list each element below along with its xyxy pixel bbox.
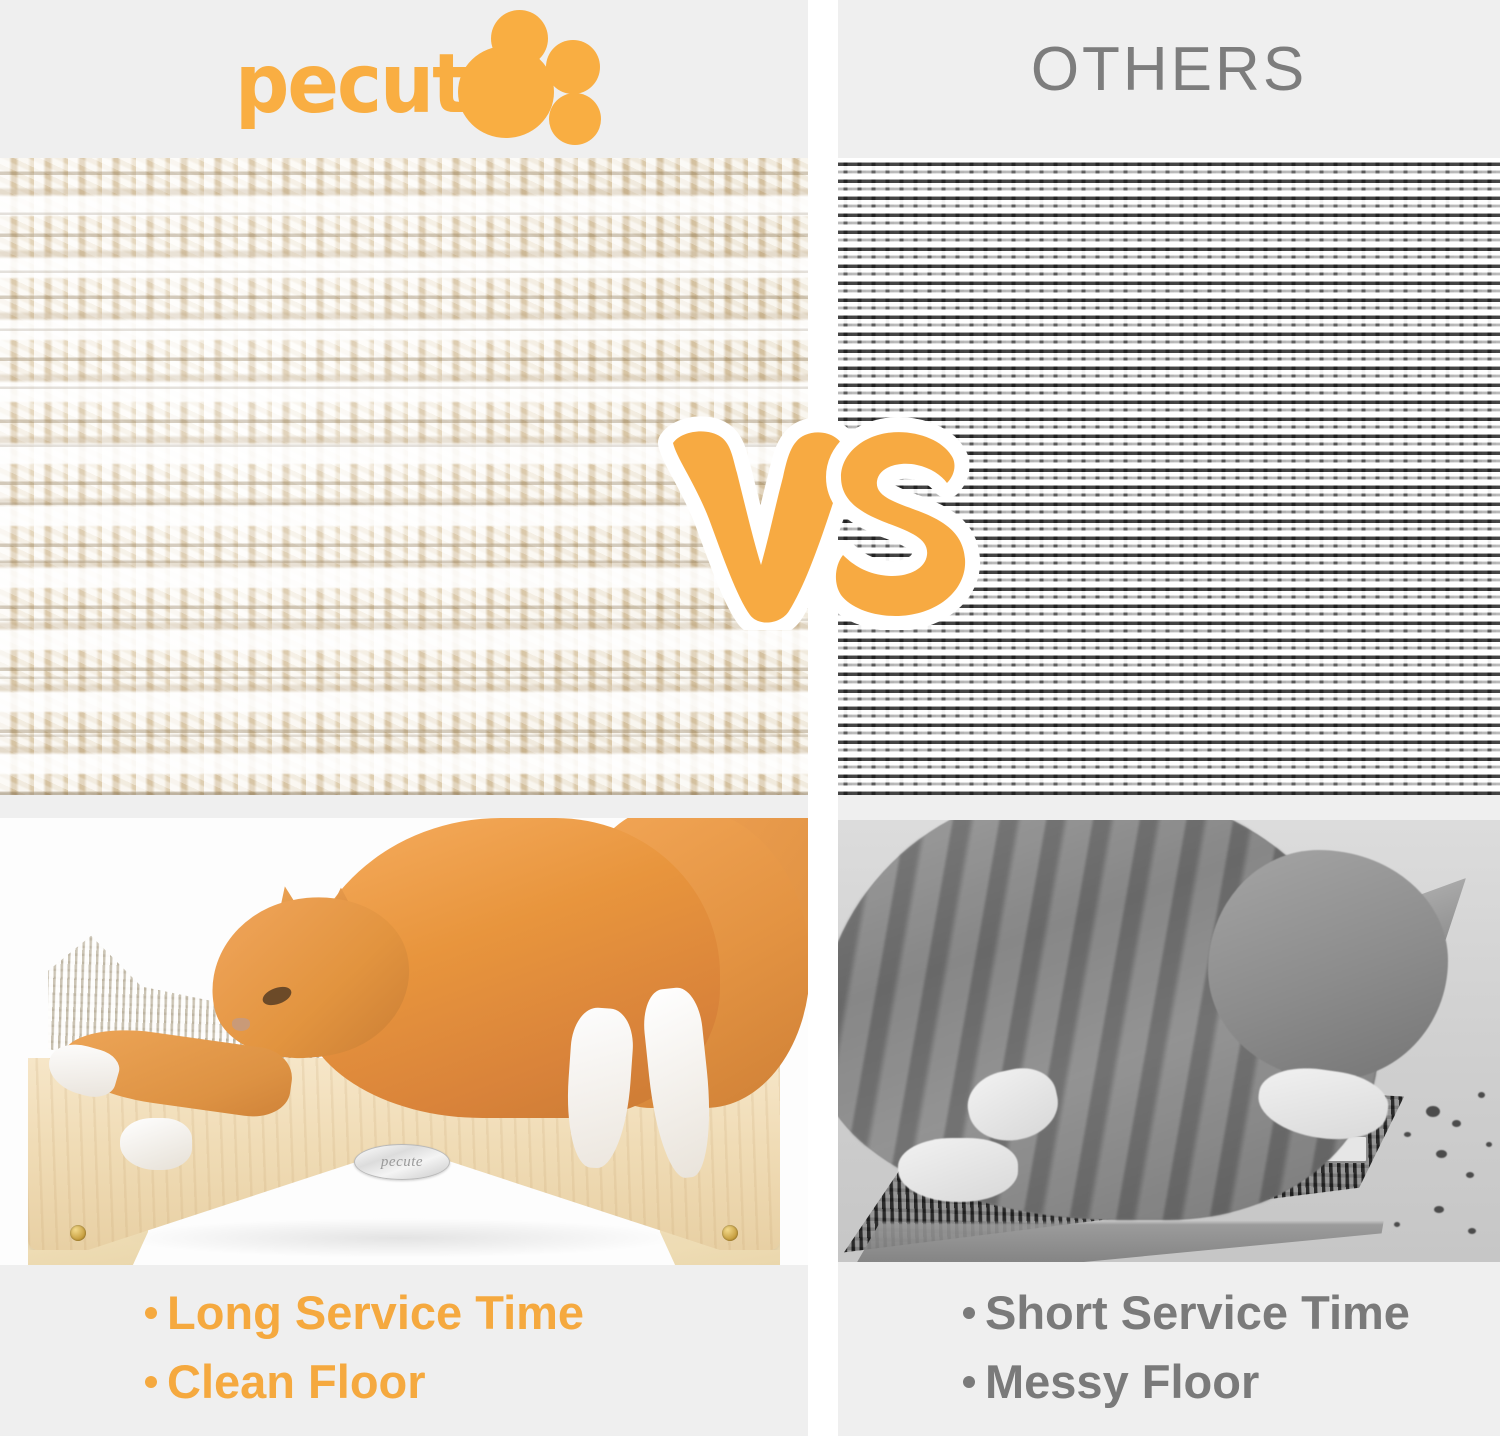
metal-logo-plate: pecute	[354, 1144, 450, 1180]
floor-debris-3	[1478, 1092, 1485, 1098]
screw-icon-left	[70, 1225, 86, 1241]
floor-debris-5	[1466, 1172, 1474, 1178]
paw-print-icon-toe-1	[491, 10, 548, 67]
pecute-product-scene-panel: pecute	[0, 818, 808, 1265]
screw-icon-right	[722, 1225, 738, 1241]
gray-cat-head	[1208, 850, 1448, 1080]
list-item: Clean Floor	[145, 1358, 584, 1405]
orange-cat-nose	[232, 1018, 250, 1031]
bullet-dot-icon	[963, 1307, 975, 1319]
pecute-benefits-caption: Long Service Time Clean Floor	[0, 1265, 808, 1436]
brand-logo: pecute	[213, 8, 593, 138]
floor-debris-4	[1436, 1150, 1447, 1158]
gray-cat-paw-1	[898, 1138, 1018, 1202]
floor-debris-6	[1404, 1132, 1411, 1137]
floor-debris-10	[1486, 1142, 1492, 1147]
paw-print-icon-toe-3	[549, 93, 601, 145]
pecute-benefits-list: Long Service Time Clean Floor	[145, 1289, 584, 1405]
list-item: Messy Floor	[963, 1358, 1410, 1405]
center-divider	[808, 0, 838, 1436]
paw-print-icon-toe-2	[546, 40, 600, 94]
floor-debris-1	[1426, 1106, 1440, 1117]
benefit-label: Long Service Time	[167, 1289, 584, 1336]
pecute-product-scene-image: pecute	[0, 818, 808, 1265]
logo-plate-text: pecute	[355, 1145, 449, 1179]
cardboard-texture-image	[838, 158, 1500, 795]
list-item: Short Service Time	[963, 1289, 1410, 1336]
others-drawbacks-list: Short Service Time Messy Floor	[963, 1289, 1410, 1405]
orange-cat-front-paw-2	[120, 1118, 192, 1170]
sisal-texture-image	[0, 158, 808, 795]
others-product-scene-image	[838, 820, 1500, 1262]
floor-debris-9	[1394, 1222, 1400, 1227]
orange-cat-shadow	[120, 1218, 680, 1258]
cardboard-texture-panel	[838, 158, 1500, 795]
floor-debris-7	[1434, 1206, 1444, 1213]
comparison-infographic: pecute OTHERS pecute	[0, 0, 1500, 1436]
drawback-label: Messy Floor	[985, 1358, 1259, 1405]
others-title: OTHERS	[838, 34, 1500, 105]
bullet-dot-icon	[963, 1376, 975, 1388]
header: pecute OTHERS	[0, 0, 1500, 158]
list-item: Long Service Time	[145, 1289, 584, 1336]
benefit-label: Clean Floor	[167, 1358, 426, 1405]
bullet-dot-icon	[145, 1376, 157, 1388]
bullet-dot-icon	[145, 1307, 157, 1319]
floor-debris-8	[1468, 1228, 1476, 1234]
others-drawbacks-caption: Short Service Time Messy Floor	[838, 1265, 1500, 1436]
others-product-scene-panel	[838, 820, 1500, 1262]
sisal-texture-panel	[0, 158, 808, 795]
drawback-label: Short Service Time	[985, 1289, 1410, 1336]
floor-debris-2	[1452, 1120, 1461, 1127]
